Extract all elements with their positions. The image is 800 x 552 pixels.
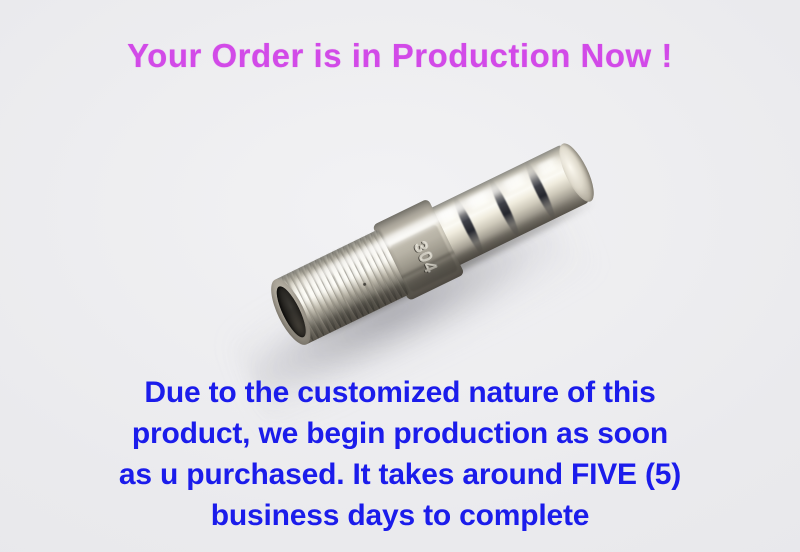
- notice-line: product, we begin production as soon: [0, 413, 800, 454]
- notice-line: as u purchased. It takes around FIVE (5): [0, 454, 800, 495]
- production-notice-text: Due to the customized nature of this pro…: [0, 372, 800, 536]
- product-photo: 304: [215, 140, 615, 375]
- notice-banner: Your Order is in Production Now ! 304: [0, 0, 800, 552]
- notice-line: business days to complete: [0, 495, 800, 536]
- notice-line: Due to the customized nature of this: [0, 372, 800, 413]
- page-title: Your Order is in Production Now !: [0, 36, 800, 76]
